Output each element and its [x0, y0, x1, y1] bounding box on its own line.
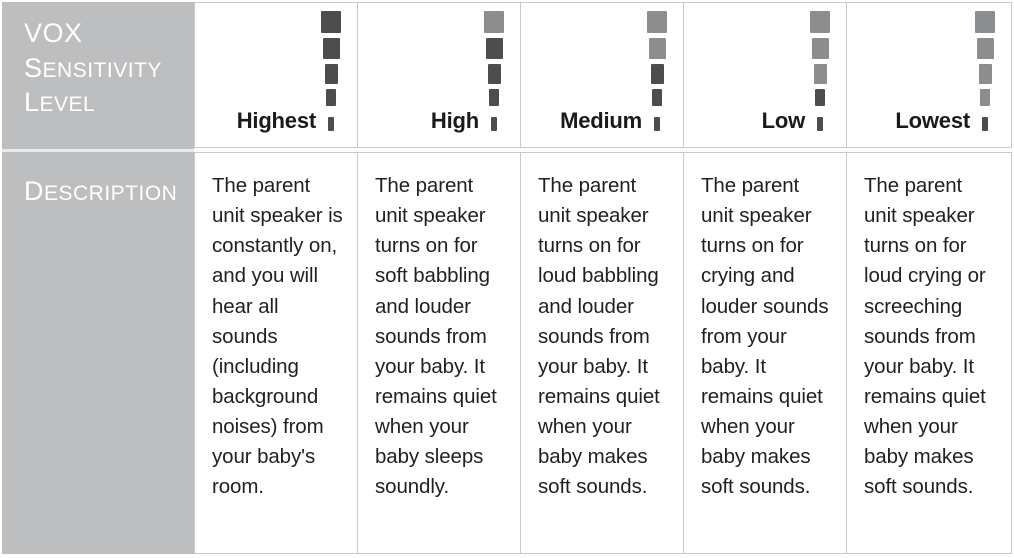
row-label-description-rest: ESCRIPTION: [44, 182, 177, 205]
label-column-divider: [2, 149, 194, 152]
row-label-sensitivity-line3: LEVEL: [24, 85, 194, 120]
level-label: Lowest: [895, 108, 970, 134]
level-inner: Lowest: [847, 7, 1011, 139]
level-label: Highest: [237, 108, 316, 134]
level-cell-lowest: Lowest: [846, 2, 1012, 148]
signal-bar-1-icon: [328, 117, 334, 131]
row-label-column: VOX SENSITIVITY LEVEL DESCRIPTION: [2, 2, 194, 554]
description-cell-highest: The parent unit speaker is constantly on…: [194, 152, 358, 554]
signal-bar-1-icon: [654, 117, 660, 131]
row-label-sensitivity-line2-cap: S: [24, 53, 43, 83]
row-label-sensitivity-line3-cap: L: [24, 87, 40, 117]
row-label-sensitivity-line2-rest: ENSITIVITY: [43, 59, 162, 82]
signal-bars-icon: [975, 7, 995, 131]
signal-bars-icon: [321, 7, 341, 131]
table-grid: Highest High: [194, 2, 1012, 554]
signal-bar-1-icon: [491, 117, 497, 131]
level-cell-medium: Medium: [520, 2, 684, 148]
signal-bar-3-icon: [979, 64, 992, 84]
row-label-sensitivity-line3-rest: EVEL: [40, 93, 96, 116]
signal-bar-3-icon: [488, 64, 501, 84]
signal-bar-4-icon: [649, 38, 666, 59]
level-label: Medium: [560, 108, 642, 134]
signal-bars-icon: [810, 7, 830, 131]
signal-bar-5-icon: [647, 11, 667, 33]
signal-bar-3-icon: [814, 64, 827, 84]
signal-bar-5-icon: [810, 11, 830, 33]
description-text: The parent unit speaker turns on for cry…: [701, 171, 832, 502]
signal-bar-4-icon: [977, 38, 994, 59]
signal-bars-icon: [647, 7, 667, 131]
level-label: Low: [762, 108, 805, 134]
row-label-description-text: DESCRIPTION: [24, 174, 194, 209]
level-inner: Highest: [195, 7, 357, 139]
signal-bar-4-icon: [486, 38, 503, 59]
signal-bar-2-icon: [489, 89, 499, 106]
signal-bar-5-icon: [321, 11, 341, 33]
description-cell-low: The parent unit speaker turns on for cry…: [683, 152, 847, 554]
description-text: The parent unit speaker is constantly on…: [212, 171, 343, 502]
row-label-description: DESCRIPTION: [2, 154, 194, 554]
level-cell-high: High: [357, 2, 521, 148]
description-text: The parent unit speaker turns on for lou…: [538, 171, 669, 502]
level-cell-highest: Highest: [194, 2, 358, 148]
signal-bar-1-icon: [982, 117, 988, 131]
row-label-sensitivity: VOX SENSITIVITY LEVEL: [2, 2, 194, 148]
description-text: The parent unit speaker turns on for lou…: [864, 171, 997, 502]
signal-bar-2-icon: [815, 89, 825, 106]
signal-bar-2-icon: [980, 89, 990, 106]
level-inner: Medium: [521, 7, 683, 139]
signal-bar-3-icon: [325, 64, 338, 84]
row-label-description-cap: D: [24, 176, 44, 206]
description-text: The parent unit speaker turns on for sof…: [375, 171, 506, 502]
signal-bar-4-icon: [323, 38, 340, 59]
level-inner: Low: [684, 7, 846, 139]
signal-bar-4-icon: [812, 38, 829, 59]
vox-sensitivity-table: VOX SENSITIVITY LEVEL DESCRIPTION Highes…: [0, 0, 1014, 558]
level-inner: High: [358, 7, 520, 139]
level-cell-low: Low: [683, 2, 847, 148]
signal-bar-5-icon: [975, 11, 995, 33]
level-label: High: [431, 108, 479, 134]
row-label-sensitivity-line1: VOX: [24, 16, 194, 51]
signal-bar-2-icon: [652, 89, 662, 106]
signal-bar-2-icon: [326, 89, 336, 106]
row-label-sensitivity-line2: SENSITIVITY: [24, 51, 194, 86]
signal-bar-3-icon: [651, 64, 664, 84]
description-cell-high: The parent unit speaker turns on for sof…: [357, 152, 521, 554]
signal-bars-icon: [484, 7, 504, 131]
signal-bar-5-icon: [484, 11, 504, 33]
signal-bar-1-icon: [817, 117, 823, 131]
description-cell-lowest: The parent unit speaker turns on for lou…: [846, 152, 1012, 554]
description-cell-medium: The parent unit speaker turns on for lou…: [520, 152, 684, 554]
